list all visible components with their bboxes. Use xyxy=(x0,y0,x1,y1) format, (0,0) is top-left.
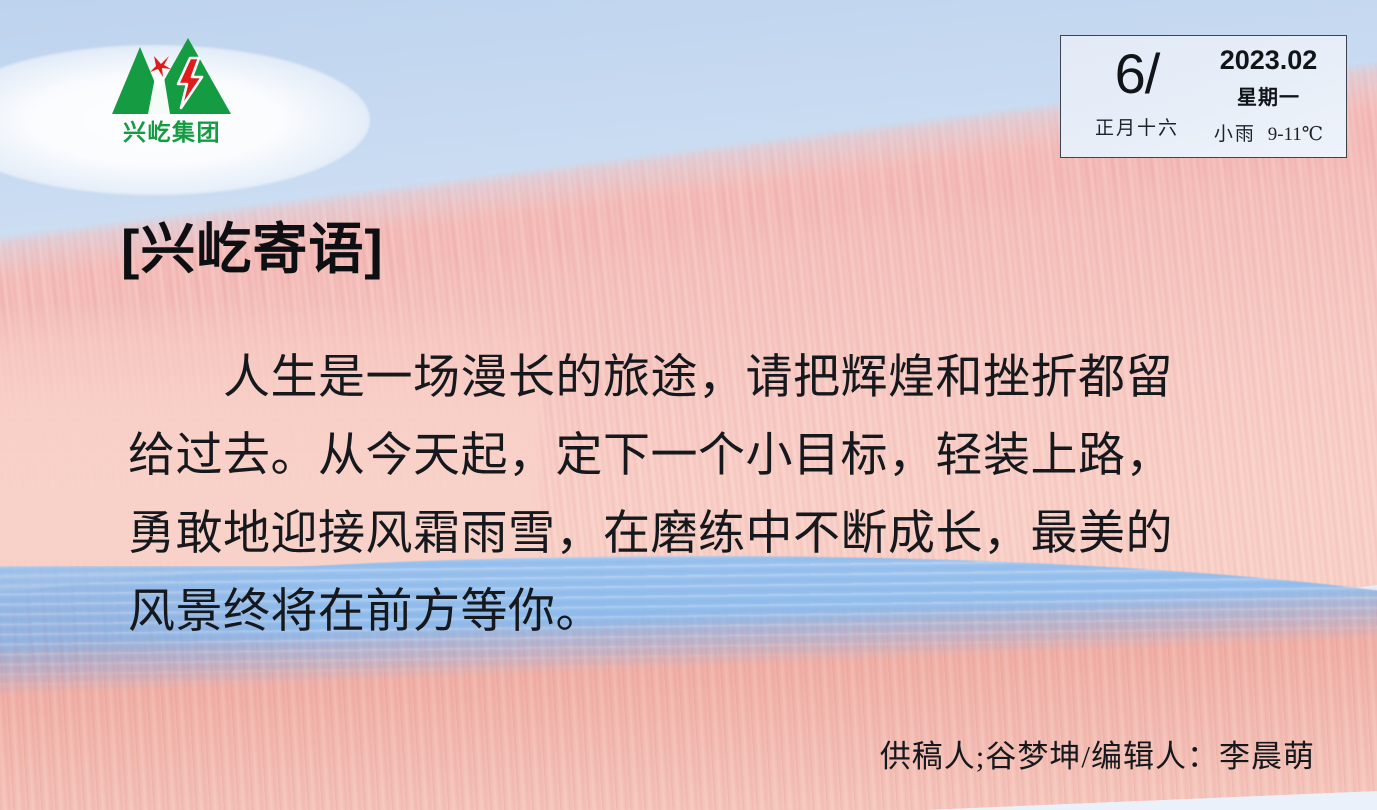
date-weather-card: 6/ 正月十六 2023.02 星期一 小雨 9-11℃ xyxy=(1060,35,1347,158)
credit-line: 供稿人;谷梦坤/编辑人：李晨萌 xyxy=(880,731,1315,776)
poster-canvas: 兴屹集团 6/ 正月十六 2023.02 星期一 小雨 9-11℃ [兴屹寄语]… xyxy=(0,0,1377,810)
brand-logo: 兴屹集团 xyxy=(98,34,246,152)
weather-line: 小雨 9-11℃ xyxy=(1214,119,1323,146)
body-line: 人生是一场漫长的旅途，请把辉煌和挫折都留 xyxy=(128,338,1263,416)
page-title: [兴屹寄语] xyxy=(121,222,384,277)
body-line: 勇敢地迎接风霜雨雪，在磨练中不断成长，最美的 xyxy=(128,494,1263,572)
weather-condition: 小雨 xyxy=(1214,124,1256,145)
year-month: 2023.02 xyxy=(1220,46,1318,76)
lunar-date: 正月十六 xyxy=(1095,113,1179,140)
body-line: 给过去。从今天起，定下一个小目标，轻装上路， xyxy=(128,416,1263,494)
body-line: 风景终将在前方等你。 xyxy=(128,572,1263,650)
date-card-left: 6/ 正月十六 xyxy=(1073,40,1201,151)
temperature-range: 9-11℃ xyxy=(1268,124,1323,145)
weekday: 星期一 xyxy=(1237,81,1300,110)
day-number: 6/ xyxy=(1115,42,1160,107)
date-card-right: 2023.02 星期一 小雨 9-11℃ xyxy=(1201,40,1336,151)
logo-wordmark: 兴屹集团 xyxy=(123,119,221,145)
message-body: 人生是一场漫长的旅途，请把辉煌和挫折都留 给过去。从今天起，定下一个小目标，轻装… xyxy=(128,338,1263,650)
